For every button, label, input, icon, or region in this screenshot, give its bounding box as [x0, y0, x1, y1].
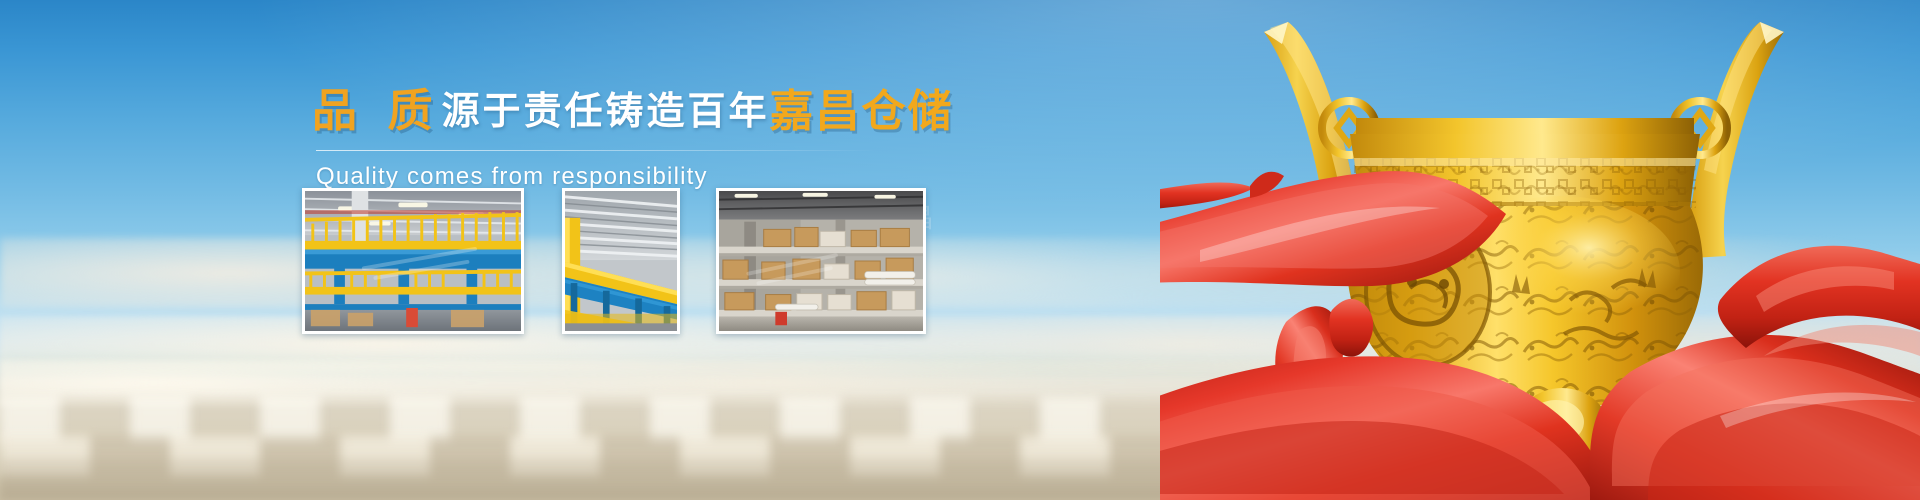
- headline: 品 质源于责任铸造百年嘉昌仓储: [312, 88, 932, 134]
- headline-accent: 品 质: [312, 85, 442, 136]
- promo-banner: 嘉昌 品 质源于责任铸造百年嘉昌仓储 Quality comes from re…: [0, 0, 1920, 500]
- photo-warehouse-mezzanine-racking[interactable]: [302, 188, 524, 334]
- banner-copy: 品 质源于责任铸造百年嘉昌仓储 Quality comes from respo…: [312, 88, 932, 191]
- ding-and-ribbon-artwork: [1160, 0, 1920, 500]
- ding-rim: [1350, 118, 1700, 160]
- divider-rule: [316, 150, 876, 151]
- headline-brand: 嘉昌仓储: [770, 87, 954, 136]
- headline-middle: 源于责任铸造百年: [442, 91, 770, 133]
- photo-thumbnail-strip: [302, 188, 926, 334]
- photo-warehouse-steel-roof-racking[interactable]: [562, 188, 680, 334]
- photo-shelving-with-cartons[interactable]: [716, 188, 926, 334]
- subheadline: Quality comes from responsibility: [316, 163, 932, 191]
